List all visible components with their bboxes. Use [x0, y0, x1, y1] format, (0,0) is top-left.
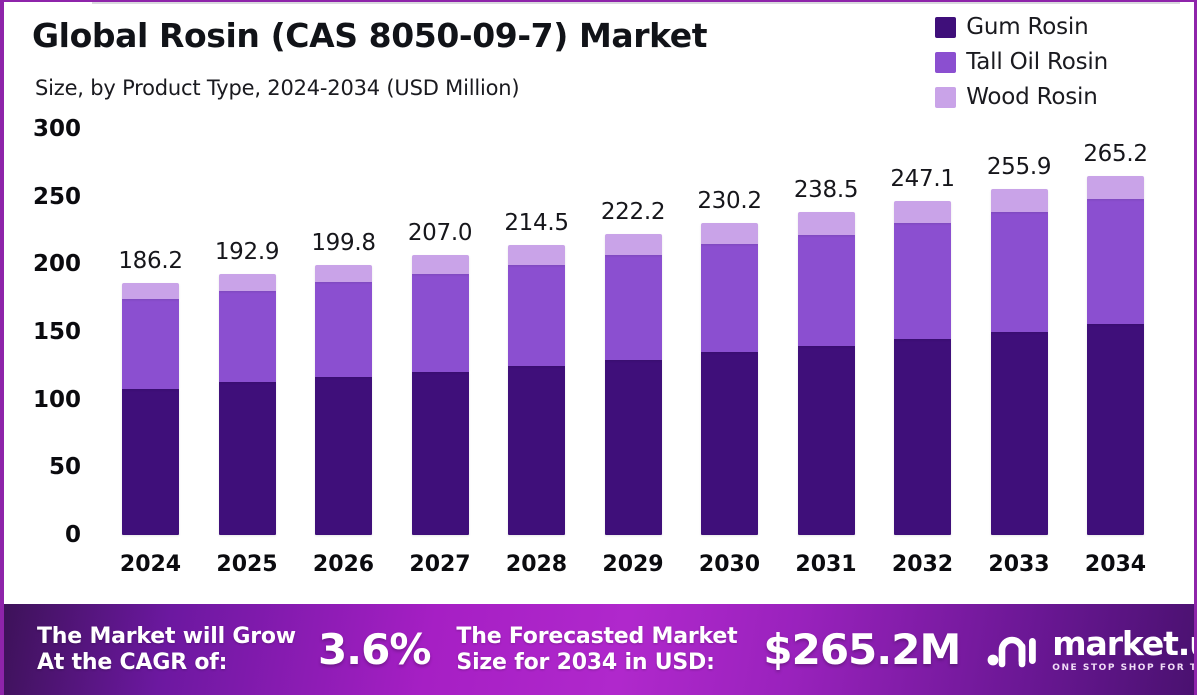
infographic-frame: Global Rosin (CAS 8050-09-7) Market Size…: [0, 0, 1197, 695]
bar-segment-wood-rosin[interactable]: [894, 201, 951, 223]
bar-segment-tall-oil-rosin[interactable]: [894, 223, 951, 339]
bar-segment-gum-rosin[interactable]: [991, 332, 1048, 535]
forecast-value: $265.2M: [763, 625, 960, 674]
bar-segment-wood-rosin[interactable]: [1087, 176, 1144, 199]
bar-segment-tall-oil-rosin[interactable]: [219, 291, 276, 382]
x-axis-baseline: [92, 2, 1180, 4]
bar-total-label: 199.8: [311, 230, 375, 256]
bar-segment-tall-oil-rosin[interactable]: [701, 244, 758, 352]
bar-segment-wood-rosin[interactable]: [991, 189, 1048, 212]
bar-segment-gum-rosin[interactable]: [508, 366, 565, 535]
x-axis-tick: 2030: [699, 552, 760, 577]
bar-total-label: 265.2: [1083, 141, 1147, 167]
bar-total-label: 186.2: [118, 248, 182, 274]
y-axis-tick: 0: [0, 522, 81, 548]
bar-segment-wood-rosin[interactable]: [605, 234, 662, 255]
bar-segment-wood-rosin[interactable]: [412, 255, 469, 274]
bar-group[interactable]: 265.2: [1087, 176, 1144, 535]
logo-text: market.us ONE STOP SHOP FOR THE REPORTS: [1052, 627, 1194, 673]
bar-group[interactable]: 255.9: [991, 189, 1048, 535]
market-us-logo-icon: [986, 630, 1042, 670]
bar-segment-tall-oil-rosin[interactable]: [1087, 199, 1144, 324]
y-axis-tick: 250: [0, 184, 81, 210]
bar-segment-wood-rosin[interactable]: [219, 274, 276, 291]
forecast-label-line2: Size for 2034 in USD:: [456, 650, 737, 676]
x-axis-tick: 2026: [313, 552, 374, 577]
bar-segment-tall-oil-rosin[interactable]: [508, 265, 565, 366]
y-axis-tick: 50: [0, 454, 81, 480]
bar-segment-wood-rosin[interactable]: [122, 283, 179, 299]
bar-segment-gum-rosin[interactable]: [798, 346, 855, 535]
bar-segment-gum-rosin[interactable]: [605, 360, 662, 535]
x-axis-tick: 2034: [1085, 552, 1146, 577]
bar-total-label: 214.5: [504, 210, 568, 236]
cagr-label: The Market will Grow At the CAGR of:: [37, 624, 296, 676]
stacked-bar-chart: 050100150200250300 186.2192.9199.8207.02…: [4, 2, 1197, 606]
y-axis-tick: 300: [0, 116, 81, 142]
bar-total-label: 247.1: [890, 166, 954, 192]
bar-group[interactable]: 247.1: [894, 201, 951, 535]
bar-segment-tall-oil-rosin[interactable]: [991, 212, 1048, 332]
bar-segment-tall-oil-rosin[interactable]: [798, 235, 855, 346]
bar-segment-gum-rosin[interactable]: [412, 372, 469, 535]
cagr-label-line2: At the CAGR of:: [37, 650, 296, 676]
logo-tagline: ONE STOP SHOP FOR THE REPORTS: [1052, 663, 1194, 673]
bar-group[interactable]: 192.9: [219, 274, 276, 535]
bar-total-label: 230.2: [697, 188, 761, 214]
logo-name: market.us: [1052, 627, 1194, 660]
y-axis-tick: 200: [0, 251, 81, 277]
bar-total-label: 238.5: [794, 177, 858, 203]
bar-total-label: 207.0: [408, 220, 472, 246]
bar-segment-gum-rosin[interactable]: [701, 352, 758, 535]
cagr-label-line1: The Market will Grow: [37, 624, 296, 650]
bar-segment-gum-rosin[interactable]: [219, 382, 276, 535]
bar-group[interactable]: 207.0: [412, 255, 469, 535]
summary-banner: The Market will Grow At the CAGR of: 3.6…: [4, 604, 1194, 695]
bar-segment-wood-rosin[interactable]: [798, 212, 855, 234]
x-axis-tick: 2028: [506, 552, 567, 577]
bar-segment-tall-oil-rosin[interactable]: [412, 274, 469, 372]
cagr-value: 3.6%: [318, 625, 430, 674]
market-us-logo[interactable]: market.us ONE STOP SHOP FOR THE REPORTS: [986, 627, 1194, 673]
forecast-label: The Forecasted Market Size for 2034 in U…: [456, 624, 737, 676]
x-axis-tick: 2027: [409, 552, 470, 577]
bar-segment-gum-rosin[interactable]: [894, 339, 951, 535]
bar-segment-gum-rosin[interactable]: [315, 377, 372, 535]
x-axis-tick: 2033: [988, 552, 1049, 577]
bar-group[interactable]: 214.5: [508, 245, 565, 535]
bar-segment-wood-rosin[interactable]: [315, 265, 372, 282]
y-axis-tick: 150: [0, 319, 81, 345]
bar-group[interactable]: 186.2: [122, 283, 179, 535]
bar-group[interactable]: 222.2: [605, 234, 662, 535]
bar-segment-wood-rosin[interactable]: [508, 245, 565, 265]
bar-segment-tall-oil-rosin[interactable]: [605, 255, 662, 361]
bar-group[interactable]: 199.8: [315, 265, 372, 535]
bar-total-label: 222.2: [601, 199, 665, 225]
bar-group[interactable]: 230.2: [701, 223, 758, 535]
y-axis-tick: 100: [0, 387, 81, 413]
x-axis-tick: 2032: [892, 552, 953, 577]
x-axis-tick: 2029: [602, 552, 663, 577]
bar-segment-gum-rosin[interactable]: [122, 389, 179, 535]
x-axis-tick: 2031: [795, 552, 856, 577]
bar-segment-tall-oil-rosin[interactable]: [122, 299, 179, 389]
x-axis-tick: 2025: [216, 552, 277, 577]
bar-segment-gum-rosin[interactable]: [1087, 324, 1144, 535]
bar-total-label: 192.9: [215, 239, 279, 265]
forecast-label-line1: The Forecasted Market: [456, 624, 737, 650]
bar-segment-wood-rosin[interactable]: [701, 223, 758, 244]
bar-segment-tall-oil-rosin[interactable]: [315, 282, 372, 377]
x-axis-tick: 2024: [120, 552, 181, 577]
bar-group[interactable]: 238.5: [798, 212, 855, 535]
bar-total-label: 255.9: [987, 154, 1051, 180]
